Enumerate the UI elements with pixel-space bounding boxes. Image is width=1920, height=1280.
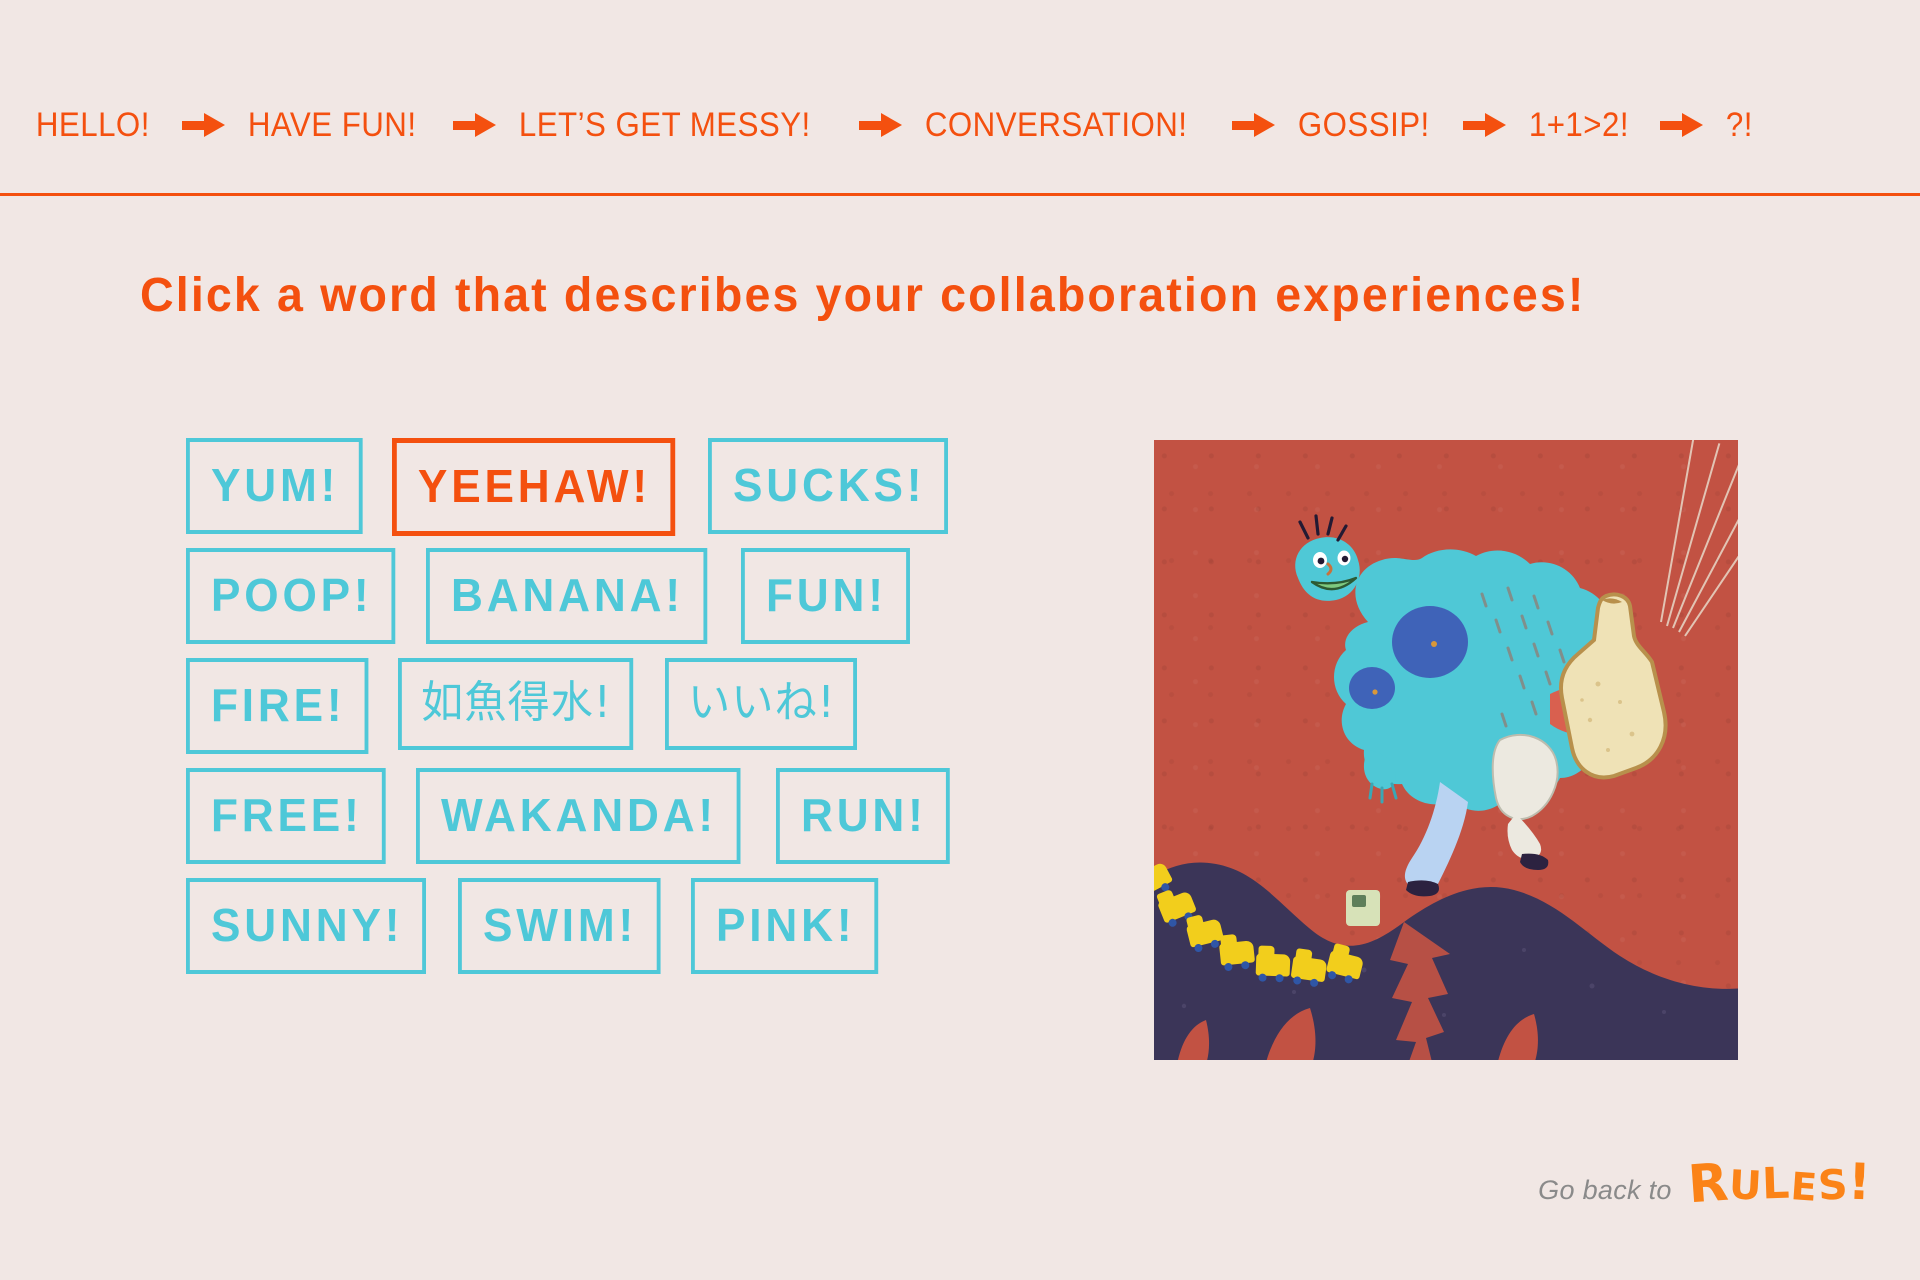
word-chip-yum[interactable]: YUM!	[186, 438, 362, 534]
arrow-right-icon	[1660, 112, 1704, 138]
breadcrumb-step-conversation[interactable]: CONVERSATION!	[923, 108, 1189, 142]
page-title: Click a word that describes your collabo…	[140, 272, 1586, 320]
rules-letter: S	[1816, 1160, 1849, 1210]
arrow-right-icon	[453, 112, 497, 138]
word-chip-fun[interactable]: FUN!	[741, 548, 910, 644]
arrow-right-icon	[1232, 112, 1276, 138]
breadcrumb: HELLO!HAVE FUN!LET’S GET MESSY!CONVERSAT…	[34, 108, 1758, 142]
word-chip-row: FIRE!如魚得水!いいね!	[186, 658, 1066, 750]
toy-car-icon	[1256, 953, 1291, 976]
rules-letter: !	[1847, 1153, 1873, 1212]
breadcrumb-nav: HELLO!HAVE FUN!LET’S GET MESSY!CONVERSAT…	[0, 0, 1920, 196]
word-chip-pink[interactable]: PINK!	[691, 878, 878, 974]
word-chip-row: POOP!BANANA!FUN!	[186, 548, 1066, 640]
word-chip-cjk-2-1[interactable]: 如魚得水!	[398, 658, 633, 750]
word-chip-swim[interactable]: SWIM!	[458, 878, 660, 974]
footer-prefix-label: Go back to	[1538, 1175, 1672, 1206]
rules-letter: L	[1761, 1159, 1791, 1210]
word-chip-banana[interactable]: BANANA!	[426, 548, 707, 644]
word-chip-sunny[interactable]: SUNNY!	[186, 878, 426, 974]
go-back-to-rules-link[interactable]: Go back to RULES!	[1538, 1152, 1872, 1212]
rules-letter: U	[1728, 1162, 1764, 1210]
breadcrumb-step-gossip[interactable]: GOSSIP!	[1296, 108, 1432, 142]
breadcrumb-step-have-fun[interactable]: HAVE FUN!	[246, 108, 418, 142]
word-chip-grid: YUM!YEEHAW!SUCKS!POOP!BANANA!FUN!FIRE!如魚…	[186, 438, 1066, 988]
breadcrumb-step-[interactable]: ?!	[1724, 108, 1755, 142]
arrow-right-icon	[182, 112, 226, 138]
word-chip-free[interactable]: FREE!	[186, 768, 386, 864]
word-chip-fire[interactable]: FIRE!	[186, 658, 369, 754]
blue-monster-illustration	[1154, 440, 1738, 1060]
word-chip-cjk-2-2[interactable]: いいね!	[665, 658, 857, 750]
word-chip-row: YUM!YEEHAW!SUCKS!	[186, 438, 1066, 530]
word-chip-row: SUNNY!SWIM!PINK!	[186, 878, 1066, 970]
bottle-icon	[1554, 592, 1679, 782]
rules-letter: E	[1789, 1164, 1819, 1210]
toy-car-icon	[1219, 940, 1255, 965]
word-chip-yeehaw[interactable]: YEEHAW!	[392, 438, 675, 536]
arrow-right-icon	[1463, 112, 1507, 138]
word-chip-poop[interactable]: POOP!	[186, 548, 396, 644]
word-chip-run[interactable]: RUN!	[776, 768, 950, 864]
breadcrumb-step-let-s-get-messy[interactable]: LET’S GET MESSY!	[517, 108, 813, 142]
rules-link-label[interactable]: RULES!	[1688, 1152, 1872, 1212]
word-chip-row: FREE!WAKANDA!RUN!	[186, 768, 1066, 860]
breadcrumb-step-1-1-2[interactable]: 1+1>2!	[1527, 108, 1631, 142]
toy-car-icon	[1291, 956, 1328, 983]
arrow-right-icon	[859, 112, 903, 138]
breadcrumb-step-hello[interactable]: HELLO!	[34, 108, 152, 142]
word-chip-sucks[interactable]: SUCKS!	[708, 438, 948, 534]
word-chip-wakanda[interactable]: WAKANDA!	[416, 768, 740, 864]
rules-letter: R	[1686, 1153, 1731, 1216]
